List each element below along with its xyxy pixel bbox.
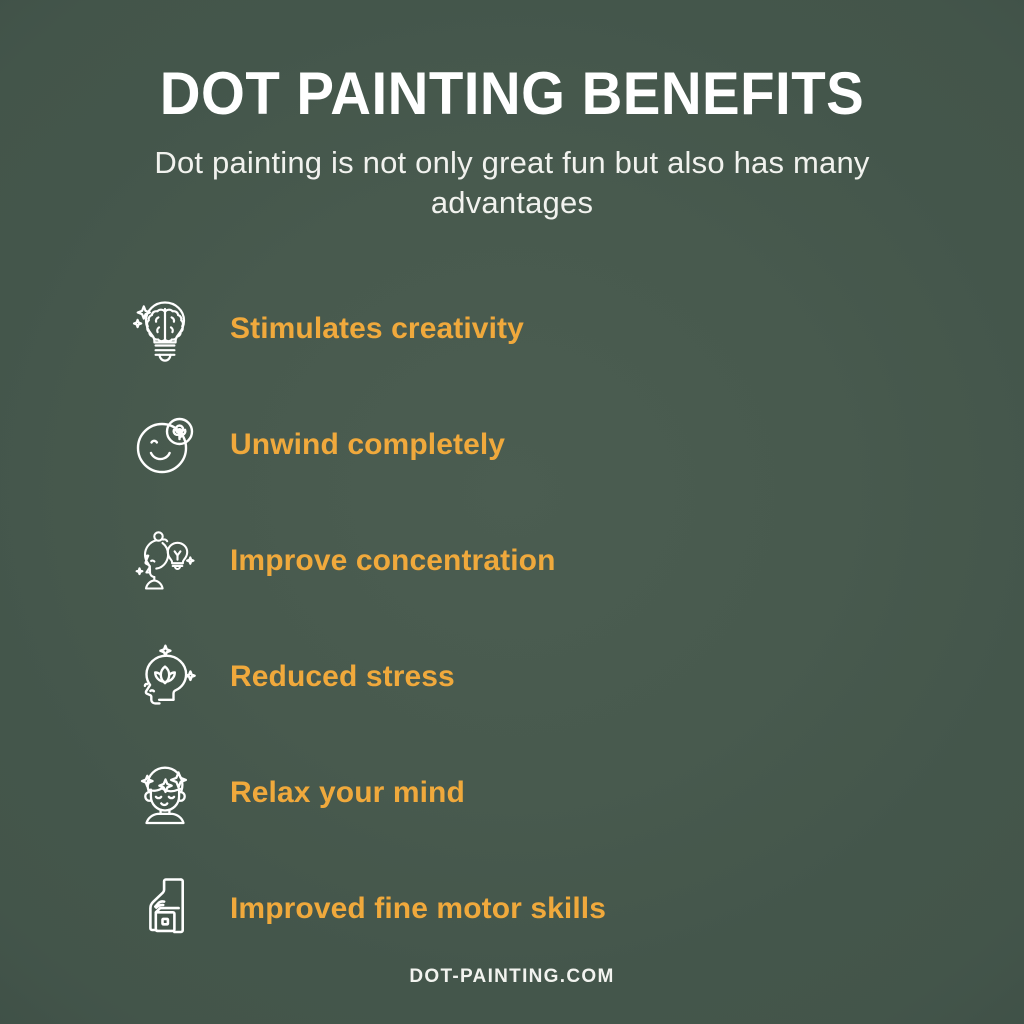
relaxed-face-stars-icon xyxy=(128,753,202,833)
list-item: Unwind completely xyxy=(128,387,908,503)
footer-website: DOT-PAINTING.COM xyxy=(0,966,1024,988)
benefit-label: Improve concentration xyxy=(230,544,556,578)
lightbulb-brain-sparkle-icon xyxy=(128,289,202,369)
benefit-label: Improved fine motor skills xyxy=(230,892,606,926)
page-subtitle: Dot painting is not only great fun but a… xyxy=(132,143,892,224)
benefit-label: Reduced stress xyxy=(230,660,455,694)
head-profile-lightbulb-icon xyxy=(128,521,202,601)
list-item: Improve concentration xyxy=(128,503,908,619)
list-item: Relax your mind xyxy=(128,735,908,851)
list-item: Stimulates creativity xyxy=(128,271,908,387)
list-item: Improved fine motor skills xyxy=(128,851,908,967)
page-title: DOT PAINTING BENEFITS xyxy=(31,62,994,125)
benefit-label: Stimulates creativity xyxy=(230,312,524,346)
benefits-list: Stimulates creativity xyxy=(128,271,908,967)
header: DOT PAINTING BENEFITS Dot painting is no… xyxy=(0,62,1024,224)
hand-holding-block-icon xyxy=(128,869,202,949)
benefit-label: Relax your mind xyxy=(230,776,465,810)
list-item: Reduced stress xyxy=(128,619,908,735)
infographic-poster: DOT PAINTING BENEFITS Dot painting is no… xyxy=(0,0,1024,1024)
benefit-label: Unwind completely xyxy=(230,428,505,462)
smiling-face-flower-icon xyxy=(128,405,202,485)
head-profile-lotus-icon xyxy=(128,637,202,717)
